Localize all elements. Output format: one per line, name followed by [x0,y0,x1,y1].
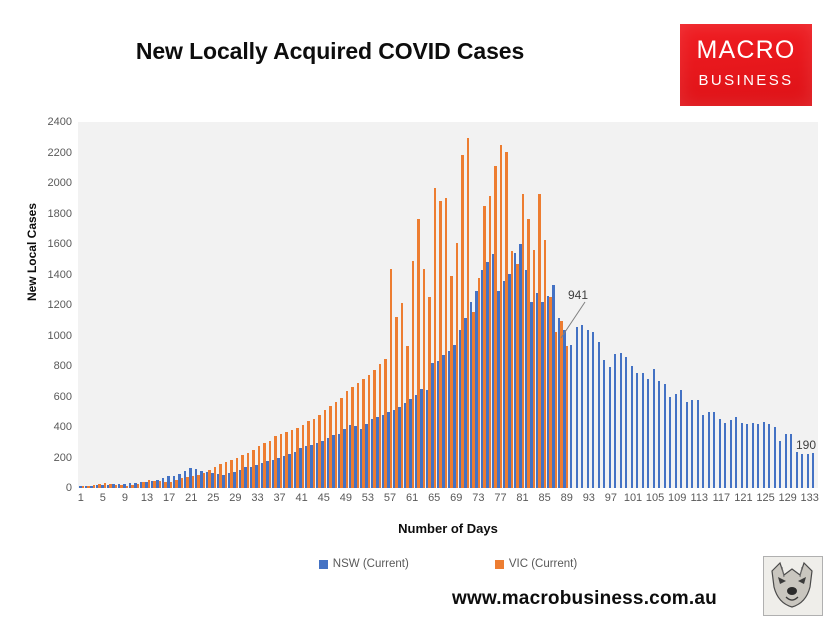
x-axis-tick: 113 [690,492,708,504]
x-axis-tick: 25 [207,492,219,504]
bar-nsw[interactable] [603,360,605,488]
x-axis-tick: 17 [163,492,175,504]
bar-nsw[interactable] [592,332,594,488]
x-axis-tick: 101 [624,492,642,504]
bar-nsw[interactable] [774,427,776,488]
x-axis-tick: 129 [778,492,796,504]
bar-nsw[interactable] [680,390,682,489]
bar-nsw[interactable] [812,453,814,488]
y-axis-tick: 200 [22,452,72,464]
x-axis-tick-labels: 1591317212529333741454953576165697377818… [78,492,818,510]
bar-nsw[interactable] [631,366,633,488]
wolf-head-icon [763,556,823,616]
y-axis-tick: 2000 [22,177,72,189]
x-axis-tick: 57 [384,492,396,504]
bar-nsw[interactable] [724,423,726,488]
y-axis-tick: 2400 [22,116,72,128]
x-axis-tick: 53 [362,492,374,504]
x-axis-tick: 121 [734,492,752,504]
bar-nsw[interactable] [785,434,787,488]
bar-nsw[interactable] [570,345,572,489]
x-axis-tick: 1 [78,492,84,504]
bar-nsw[interactable] [801,454,803,488]
logo-word-macro: MACRO [680,36,812,65]
x-axis-tick: 9 [122,492,128,504]
bar-nsw[interactable] [609,367,611,488]
bar-nsw[interactable] [675,394,677,488]
x-axis-tick: 45 [318,492,330,504]
y-axis-tick: 1600 [22,238,72,250]
bar-nsw[interactable] [741,423,743,488]
bar-nsw[interactable] [768,424,770,488]
bar-nsw[interactable] [796,452,798,488]
x-axis-tick: 29 [229,492,241,504]
y-axis-tick: 1000 [22,330,72,342]
bar-nsw[interactable] [807,454,809,488]
bar-nsw[interactable] [730,420,732,488]
bar-nsw[interactable] [653,369,655,488]
bar-nsw[interactable] [702,415,704,488]
x-axis-tick: 85 [539,492,551,504]
annotation-latest-nsw: 190 [796,438,816,452]
x-axis-tick: 41 [296,492,308,504]
x-axis-tick: 117 [713,492,731,504]
x-axis-tick: 37 [273,492,285,504]
y-axis-tick: 400 [22,421,72,433]
bar-nsw[interactable] [691,400,693,488]
chart-container: New Locally Acquired COVID Cases MACRO B… [0,0,833,624]
bar-nsw[interactable] [719,419,721,488]
legend-swatch-nsw-icon [319,560,328,569]
x-axis-tick: 13 [141,492,153,504]
x-axis-tick: 69 [450,492,462,504]
bar-nsw[interactable] [642,373,644,488]
site-url: www.macrobusiness.com.au [452,588,717,610]
x-axis-tick: 97 [605,492,617,504]
bar-nsw[interactable] [664,384,666,488]
y-axis-tick: 1200 [22,299,72,311]
x-axis-tick: 61 [406,492,418,504]
bar-nsw[interactable] [697,400,699,488]
bar-nsw[interactable] [625,357,627,488]
bar-nsw[interactable] [713,412,715,488]
y-axis-tick: 600 [22,391,72,403]
x-axis-title: Number of Days [78,521,818,536]
x-axis-tick: 49 [340,492,352,504]
legend-item-vic[interactable]: VIC (Current) [495,558,577,570]
bar-nsw[interactable] [746,424,748,488]
annotation-peak-nsw: 941 [568,288,588,302]
x-axis-tick: 133 [801,492,819,504]
x-axis-tick: 109 [668,492,686,504]
bar-nsw[interactable] [647,379,649,488]
bar-nsw[interactable] [598,342,600,488]
y-axis-tick: 0 [22,482,72,494]
bar-nsw[interactable] [708,412,710,488]
bar-nsw[interactable] [576,327,578,488]
y-axis-tick: 2200 [22,147,72,159]
bar-nsw[interactable] [686,402,688,488]
bar-nsw[interactable] [581,325,583,488]
bar-nsw[interactable] [620,353,622,488]
legend-swatch-vic-icon [495,560,504,569]
x-axis-tick: 65 [428,492,440,504]
bar-nsw[interactable] [735,417,737,488]
legend-label-vic: VIC (Current) [509,558,577,570]
y-axis-tick: 1400 [22,269,72,281]
macro-business-logo: MACRO BUSINESS [680,24,812,106]
wolf-head-glyph [764,557,820,613]
x-axis-tick: 5 [100,492,106,504]
x-axis-tick: 89 [561,492,573,504]
bar-nsw[interactable] [763,422,765,488]
bar-nsw[interactable] [587,330,589,488]
bar-nsw[interactable] [636,373,638,488]
x-axis-tick: 125 [756,492,774,504]
bar-nsw[interactable] [658,381,660,488]
y-axis-tick: 800 [22,360,72,372]
y-axis-tick-labels: 0200400600800100012001400160018002000220… [22,122,72,488]
x-axis-tick: 81 [516,492,528,504]
x-axis-tick: 33 [251,492,263,504]
logo-word-business: BUSINESS [680,72,812,89]
bars-layer [78,122,818,488]
bar-nsw[interactable] [779,441,781,488]
x-axis-tick: 77 [494,492,506,504]
y-axis-tick: 1800 [22,208,72,220]
legend-item-nsw[interactable]: NSW (Current) [319,558,409,570]
chart-title: New Locally Acquired COVID Cases [0,38,660,65]
chart-legend: NSW (Current) VIC (Current) [78,558,818,570]
bar-nsw[interactable] [752,423,754,488]
bar-nsw[interactable] [669,397,671,488]
bar-group [811,122,817,488]
bar-nsw[interactable] [757,424,759,488]
x-axis-tick: 21 [185,492,197,504]
x-axis-tick: 105 [646,492,664,504]
bar-nsw[interactable] [614,354,616,488]
x-axis-tick: 93 [583,492,595,504]
legend-label-nsw: NSW (Current) [333,558,409,570]
x-axis-tick: 73 [472,492,484,504]
plot-area [78,122,818,488]
bar-nsw[interactable] [790,434,792,488]
